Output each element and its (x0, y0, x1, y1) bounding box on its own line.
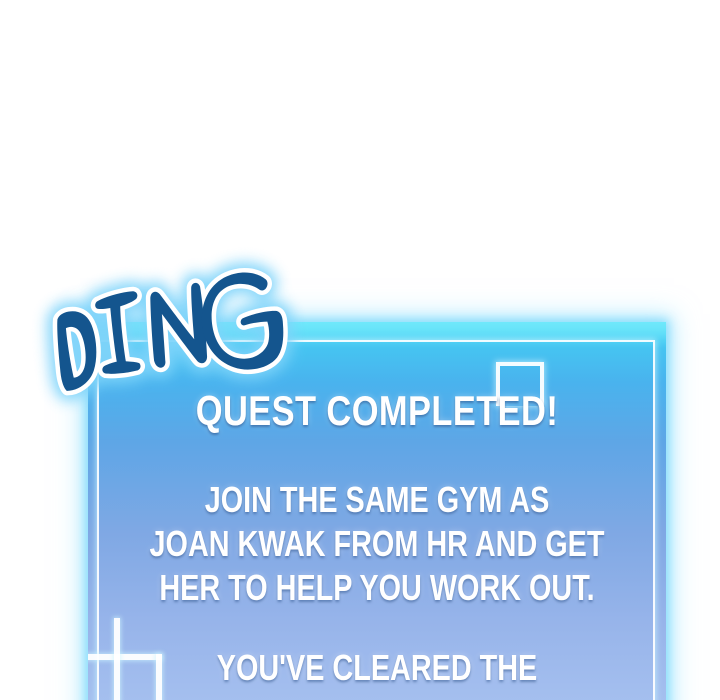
quest-objective-text: JOIN THE SAME GYM AS JOAN KWAK FROM HR A… (146, 432, 608, 610)
quest-title: QUEST COMPLETED! (140, 322, 614, 432)
quest-objective-line: HER TO HELP YOU WORK OUT. (146, 566, 608, 610)
quest-notification-scene: QUEST COMPLETED! JOIN THE SAME GYM AS JO… (0, 0, 720, 700)
quest-reward-text: YOU'VE CLEARED THE (146, 610, 608, 690)
quest-objective-line: JOAN KWAK FROM HR AND GET (146, 522, 608, 566)
quest-objective-line: JOIN THE SAME GYM AS (146, 478, 608, 522)
quest-reward-line: YOU'VE CLEARED THE (146, 646, 608, 690)
panel-content: QUEST COMPLETED! JOIN THE SAME GYM AS JO… (88, 322, 666, 690)
quest-complete-panel: QUEST COMPLETED! JOIN THE SAME GYM AS JO… (88, 322, 666, 700)
